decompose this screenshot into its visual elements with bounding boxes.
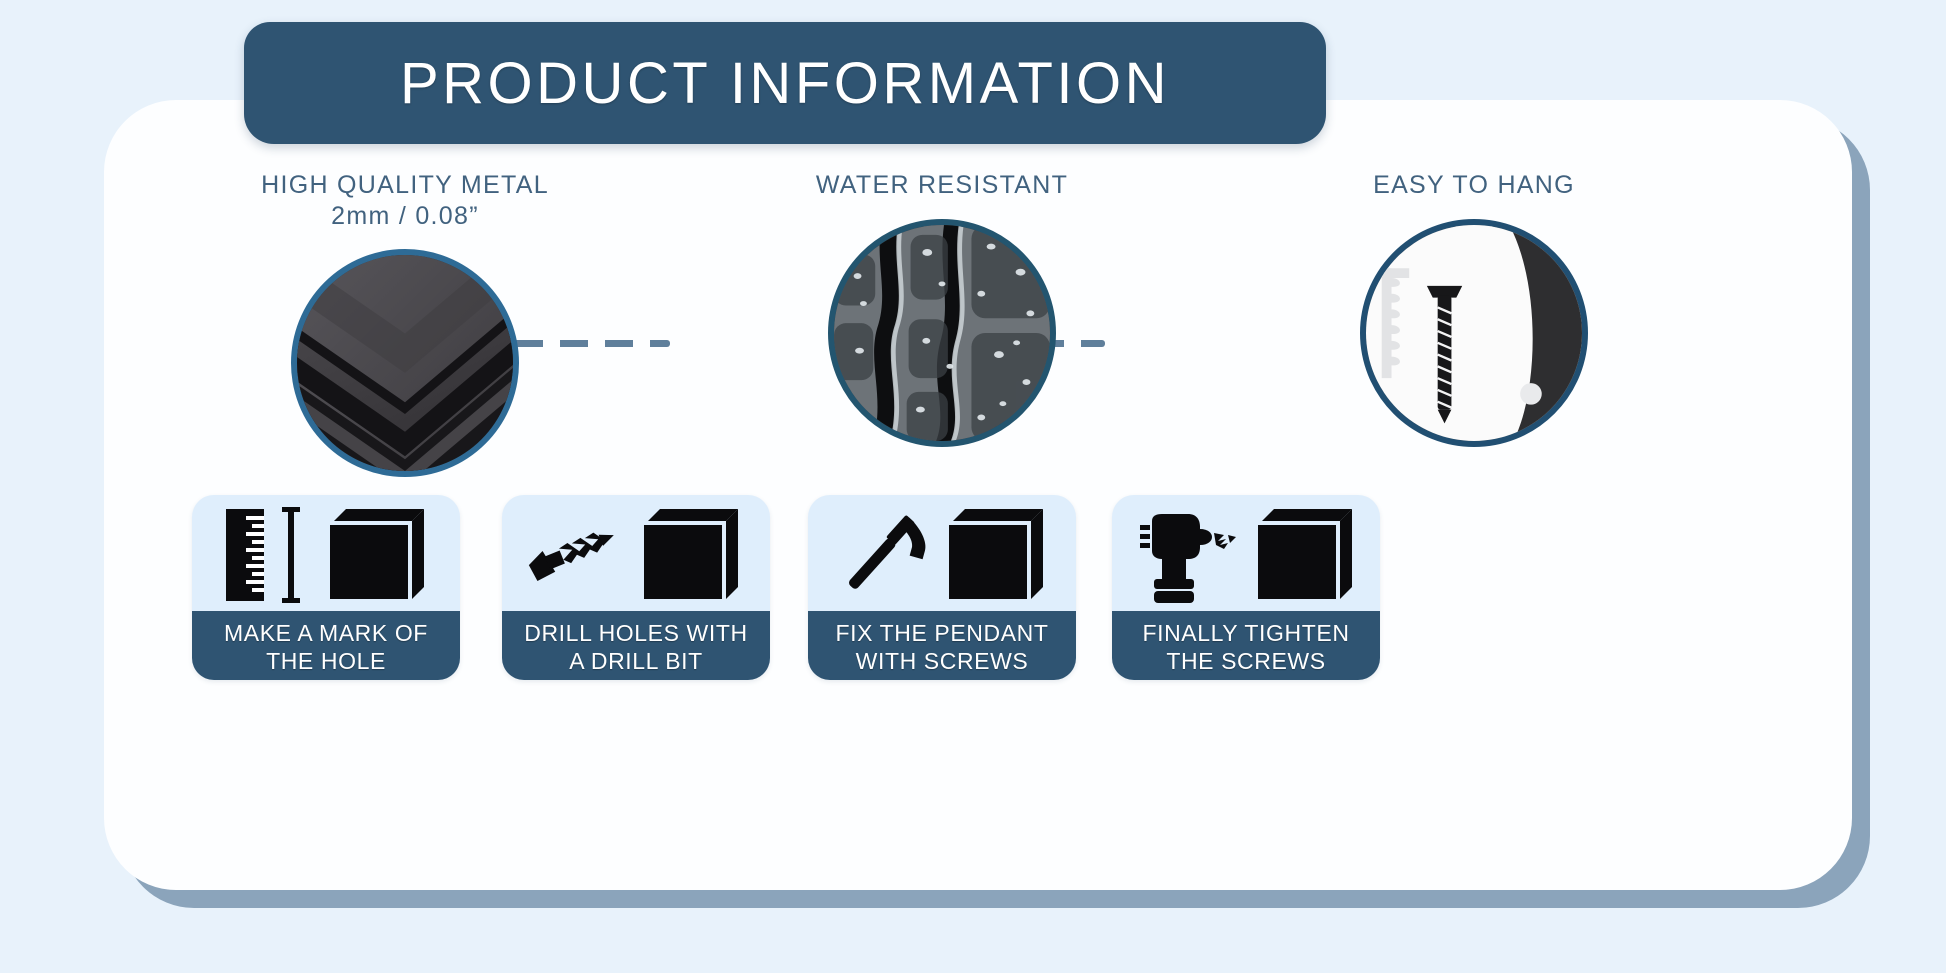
feature-high-quality-metal: HIGH QUALITY METAL 2mm / 0.08” [240, 170, 570, 477]
feature-label: EASY TO HANG [1373, 170, 1575, 201]
infographic-stage: PRODUCT INFORMATION HIGH QUALITY METAL 2… [0, 0, 1946, 973]
steps-row: MAKE A MARK OF THE HOLE [104, 495, 1852, 695]
plaque-icon [939, 503, 1051, 607]
step-caption: FINALLY TIGHTEN THE SCREWS [1112, 611, 1380, 680]
power-drill-icon [1132, 503, 1240, 607]
step-caption: MAKE A MARK OF THE HOLE [192, 611, 460, 680]
stacked-metal-sheets-photo [291, 249, 519, 477]
hammer-icon [833, 503, 931, 607]
step-caption: FIX THE PENDANT WITH SCREWS [808, 611, 1076, 680]
step-card-drill-holes[interactable]: DRILL HOLES WITH A DRILL BIT [502, 495, 770, 680]
plaque-icon [320, 503, 432, 607]
water-droplets-on-metal-photo [828, 219, 1056, 447]
step-card-tighten-screws[interactable]: FINALLY TIGHTEN THE SCREWS [1112, 495, 1380, 680]
drill-bit-icon [526, 503, 626, 607]
feature-row: HIGH QUALITY METAL 2mm / 0.08” [104, 170, 1852, 500]
page-title: PRODUCT INFORMATION [400, 50, 1170, 117]
plaque-icon [1248, 503, 1360, 607]
plaque-icon [634, 503, 746, 607]
feature-label: WATER RESISTANT [816, 170, 1068, 201]
feature-water-resistant: WATER RESISTANT [777, 170, 1107, 447]
step-card-fix-pendant[interactable]: FIX THE PENDANT WITH SCREWS [808, 495, 1076, 680]
title-banner: PRODUCT INFORMATION [244, 22, 1326, 144]
step-icon-group [808, 495, 1076, 611]
step-icon-group [502, 495, 770, 611]
step-caption: DRILL HOLES WITH A DRILL BIT [502, 611, 770, 680]
screw-and-wall-anchor-photo [1360, 219, 1588, 447]
ruler-icon [220, 503, 312, 607]
step-icon-group [1112, 495, 1380, 611]
step-icon-group [192, 495, 460, 611]
feature-easy-to-hang: EASY TO HANG [1309, 170, 1639, 447]
step-card-make-a-mark[interactable]: MAKE A MARK OF THE HOLE [192, 495, 460, 680]
feature-label: HIGH QUALITY METAL 2mm / 0.08” [261, 170, 549, 231]
